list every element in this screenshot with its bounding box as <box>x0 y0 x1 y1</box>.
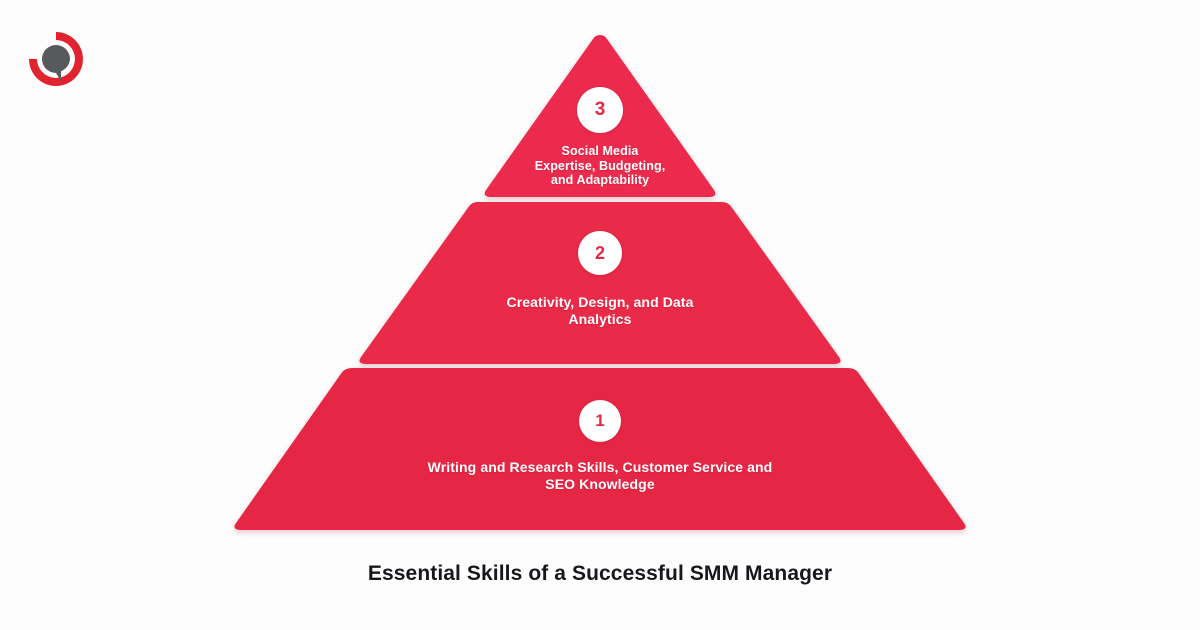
tier-2-number: 2 <box>595 243 605 264</box>
tier-3-number: 3 <box>595 99 606 121</box>
pyramid-diagram <box>0 0 1200 560</box>
infographic-canvas: 3 Social Media Expertise, Budgeting, and… <box>0 0 1200 630</box>
tier-2-number-badge[interactable]: 2 <box>578 231 622 275</box>
pyramid-shapes <box>0 0 1200 560</box>
tier-1-number: 1 <box>595 411 604 431</box>
page-title: Essential Skills of a Successful SMM Man… <box>0 562 1200 586</box>
pyramid-tier-2-shape[interactable] <box>359 202 840 364</box>
pyramid-tier-1-shape[interactable] <box>234 368 965 530</box>
tier-1-number-badge[interactable]: 1 <box>579 400 621 442</box>
tier-3-number-badge[interactable]: 3 <box>577 87 623 133</box>
